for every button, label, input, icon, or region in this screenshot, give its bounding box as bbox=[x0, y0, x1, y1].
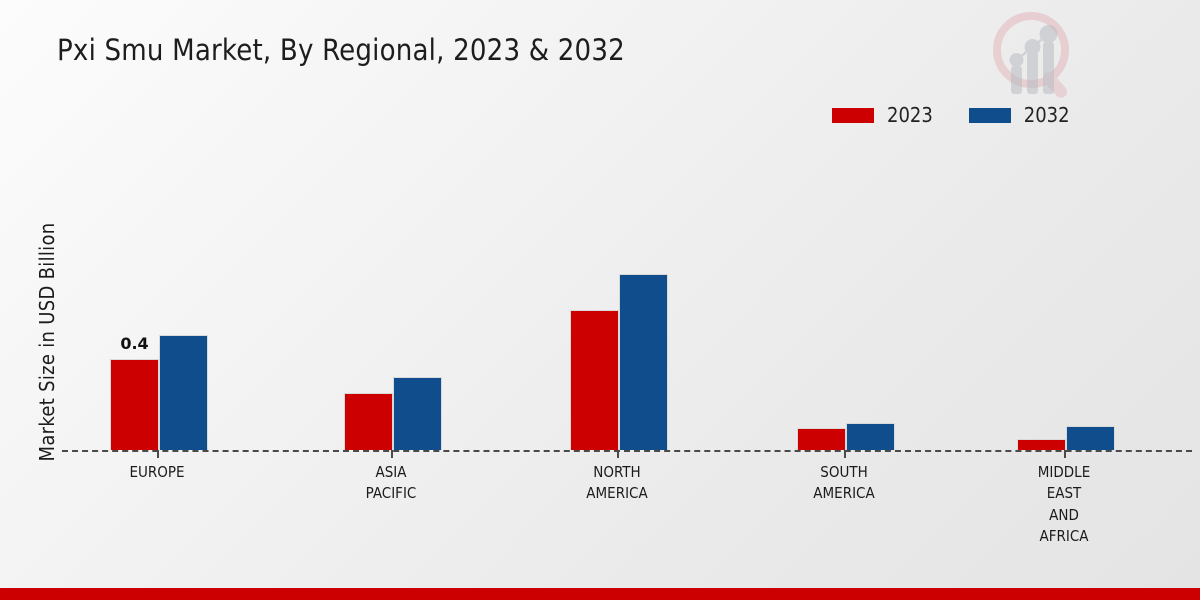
x-label-north-america: NORTH AMERICA bbox=[522, 462, 712, 505]
x-label-middle-east-and-africa-line-4: AFRICA bbox=[969, 526, 1159, 547]
bar-north-america-2032[interactable] bbox=[619, 274, 668, 450]
bar-asia-pacific-2023[interactable] bbox=[344, 393, 393, 450]
x-tick-europe bbox=[157, 450, 159, 458]
x-tick-south-america bbox=[844, 450, 846, 458]
chart-container: Pxi Smu Market, By Regional, 2023 & 2032… bbox=[0, 0, 1200, 600]
x-label-europe: EUROPE bbox=[62, 462, 252, 483]
x-label-middle-east-and-africa: MIDDLE EAST AND AFRICA bbox=[969, 462, 1159, 547]
x-tick-north-america bbox=[617, 450, 619, 458]
x-label-asia-pacific: ASIA PACIFIC bbox=[296, 462, 486, 505]
chart-legend: 2023 2032 bbox=[832, 104, 1070, 126]
bars-asia-pacific bbox=[344, 150, 442, 450]
x-label-europe-line-1: EUROPE bbox=[62, 462, 252, 483]
x-label-north-america-line-2: AMERICA bbox=[522, 483, 712, 504]
x-label-middle-east-and-africa-line-3: AND bbox=[969, 505, 1159, 526]
bar-asia-pacific-2032[interactable] bbox=[393, 377, 442, 450]
bar-south-america-2032[interactable] bbox=[846, 423, 895, 450]
x-tick-asia-pacific bbox=[391, 450, 393, 458]
bars-europe: 0.4 bbox=[110, 150, 208, 450]
bars-north-america bbox=[570, 150, 668, 450]
x-label-south-america-line-1: SOUTH bbox=[749, 462, 939, 483]
x-axis-baseline bbox=[62, 450, 1192, 452]
x-label-south-america-line-2: AMERICA bbox=[749, 483, 939, 504]
legend-item-2023[interactable]: 2023 bbox=[832, 105, 933, 125]
bar-value-europe-2023: 0.4 bbox=[120, 334, 148, 353]
legend-item-2032[interactable]: 2032 bbox=[969, 105, 1070, 125]
x-label-asia-pacific-line-2: PACIFIC bbox=[296, 483, 486, 504]
legend-label-2032: 2032 bbox=[1024, 105, 1070, 125]
legend-swatch-2023 bbox=[832, 108, 874, 123]
bar-south-america-2023[interactable] bbox=[797, 428, 846, 450]
magnifier-bar-chart-logo-watermark-icon bbox=[985, 8, 1085, 104]
x-label-middle-east-and-africa-line-2: EAST bbox=[969, 483, 1159, 504]
bar-europe-2023[interactable]: 0.4 bbox=[110, 359, 159, 450]
bar-europe-2032[interactable] bbox=[159, 335, 208, 450]
bars-south-america bbox=[797, 150, 895, 450]
y-axis-title: Market Size in USD Billion bbox=[35, 147, 59, 537]
bar-middle-east-and-africa-2032[interactable] bbox=[1066, 426, 1115, 450]
x-label-south-america: SOUTH AMERICA bbox=[749, 462, 939, 505]
footer-accent-bar bbox=[0, 588, 1200, 600]
legend-label-2023: 2023 bbox=[887, 105, 933, 125]
bar-middle-east-and-africa-2023[interactable] bbox=[1017, 439, 1066, 450]
x-label-north-america-line-1: NORTH bbox=[522, 462, 712, 483]
x-tick-middle-east-and-africa bbox=[1064, 450, 1066, 458]
bars-middle-east-and-africa bbox=[1017, 150, 1115, 450]
x-label-asia-pacific-line-1: ASIA bbox=[296, 462, 486, 483]
x-label-middle-east-and-africa-line-1: MIDDLE bbox=[969, 462, 1159, 483]
chart-title: Pxi Smu Market, By Regional, 2023 & 2032 bbox=[57, 33, 625, 67]
plot-area: 0.4 EUROPE ASIA PACIFIC bbox=[62, 150, 1192, 450]
bar-north-america-2023[interactable] bbox=[570, 310, 619, 450]
legend-swatch-2032 bbox=[969, 108, 1011, 123]
